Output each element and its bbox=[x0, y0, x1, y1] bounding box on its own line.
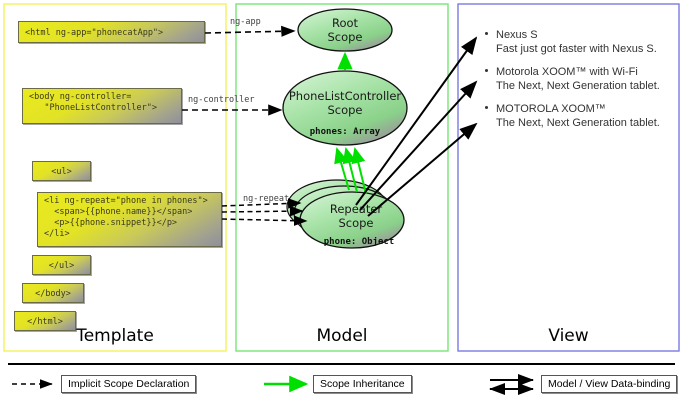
list-item: Motorola XOOM™ with Wi-Fi The Next, Next… bbox=[485, 65, 670, 93]
edge-label-ng-controller: ng-controller bbox=[188, 95, 255, 105]
body-tag-box-line1: <body ng-controller= bbox=[29, 92, 131, 102]
bullet-icon bbox=[485, 69, 488, 72]
root-scope-node: Root Scope bbox=[298, 9, 392, 51]
body-close-box-text: </body> bbox=[35, 289, 71, 299]
edge-label-ng-app: ng-app bbox=[230, 17, 261, 27]
bullet-icon bbox=[485, 106, 488, 109]
legend-implicit-scope-declaration: Implicit Scope Declaration bbox=[61, 375, 196, 393]
panel-model-border bbox=[236, 4, 448, 351]
html-tag-box: <html ng-app="phonecatApp"> bbox=[18, 21, 205, 43]
edge-label-ng-repeat: ng-repeat bbox=[243, 194, 289, 204]
phone-snippet: The Next, Next Generation tablet. bbox=[496, 116, 670, 130]
svg-text:Scope: Scope bbox=[327, 103, 362, 117]
li-repeat-box: <li ng-repeat="phone in phones"> <span>{… bbox=[37, 192, 222, 247]
bullet-icon bbox=[485, 32, 488, 35]
svg-text:PhoneListController: PhoneListController bbox=[289, 89, 402, 103]
svg-text:Root: Root bbox=[332, 16, 359, 30]
li-repeat-line3: <p>{{phone.snippet}}</p> bbox=[44, 218, 177, 228]
body-tag-box-line2: "PhoneListController"> bbox=[29, 103, 157, 113]
edge-binding-item-3 bbox=[368, 124, 476, 216]
html-tag-box-text: <html ng-app="phonecatApp"> bbox=[25, 28, 163, 38]
li-repeat-line1: <li ng-repeat="phone in phones"> bbox=[44, 196, 208, 206]
edge-ng-app bbox=[205, 31, 294, 33]
svg-text:phone: Object: phone: Object bbox=[324, 236, 394, 247]
svg-text:phones: Array: phones: Array bbox=[310, 127, 381, 137]
phone-snippet: Fast just got faster with Nexus S. bbox=[496, 42, 670, 56]
li-repeat-line2: <span>{{phone.name}}</span> bbox=[44, 207, 192, 217]
panel-label-view: View bbox=[458, 326, 679, 346]
phone-name: Motorola XOOM™ with Wi-Fi bbox=[496, 65, 670, 79]
phone-name: MOTOROLA XOOM™ bbox=[496, 102, 670, 116]
panel-label-template: Template bbox=[4, 326, 226, 346]
diagram-canvas: Root Scope PhoneListController Scope pho… bbox=[0, 0, 683, 411]
body-close-box: </body> bbox=[22, 283, 84, 303]
legend-model-view-data-binding: Model / View Data-binding bbox=[541, 375, 677, 393]
repeater-scope-node: Repeater Scope phone: Object bbox=[287, 180, 404, 248]
ul-open-box-text: <ul> bbox=[51, 167, 71, 177]
ul-close-box-text: </ul> bbox=[49, 261, 75, 271]
li-repeat-line4: </li> bbox=[44, 229, 70, 239]
svg-text:Scope: Scope bbox=[338, 216, 373, 230]
phonelistcontroller-scope-node: PhoneListController Scope phones: Array bbox=[283, 71, 407, 145]
phone-name: Nexus S bbox=[496, 28, 670, 42]
body-tag-box: <body ng-controller= "PhoneListControlle… bbox=[22, 88, 182, 124]
legend-scope-inheritance: Scope Inheritance bbox=[313, 375, 412, 393]
view-phone-list: Nexus S Fast just got faster with Nexus … bbox=[485, 28, 670, 139]
list-item: Nexus S Fast just got faster with Nexus … bbox=[485, 28, 670, 56]
ul-open-box: <ul> bbox=[32, 161, 91, 181]
svg-text:Scope: Scope bbox=[327, 30, 362, 44]
list-item: MOTOROLA XOOM™ The Next, Next Generation… bbox=[485, 102, 670, 130]
ul-close-box: </ul> bbox=[32, 255, 91, 275]
phone-snippet: The Next, Next Generation tablet. bbox=[496, 79, 670, 93]
panel-label-model: Model bbox=[236, 326, 448, 346]
